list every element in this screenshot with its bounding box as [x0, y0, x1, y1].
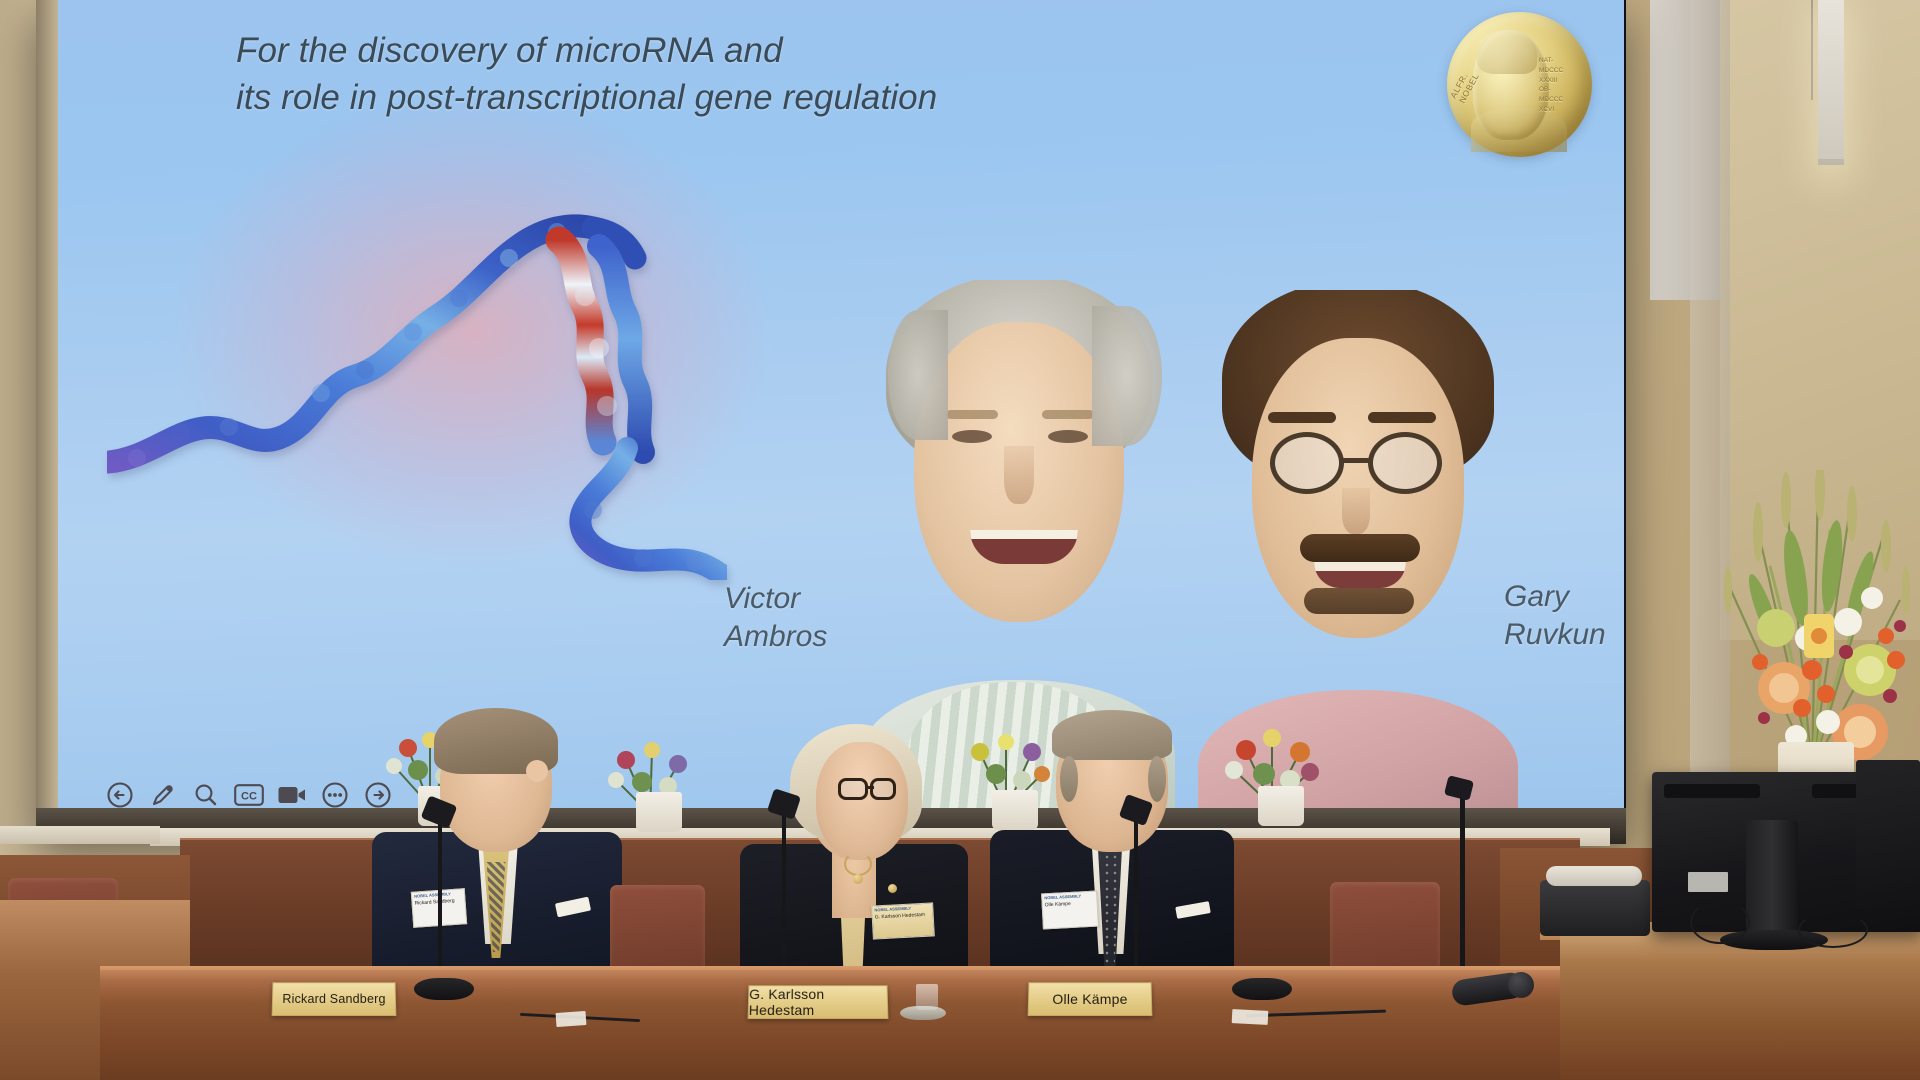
- magnifier-icon[interactable]: [191, 780, 221, 810]
- medal-insc-r3: XXXIII: [1539, 76, 1583, 86]
- vase-4: [1258, 786, 1304, 826]
- slide-title: For the discovery of microRNA and its ro…: [236, 28, 1296, 122]
- slide-title-line-1: For the discovery of microRNA and: [236, 31, 783, 70]
- pen-icon[interactable]: [148, 780, 178, 810]
- panelist-olle-kampe: NOBEL ASSEMBLY Olle Kämpe: [1000, 702, 1222, 1002]
- monitor-cable: [1690, 900, 1750, 944]
- monitor-spec-label: [1688, 872, 1728, 892]
- paper-right: [1232, 1009, 1269, 1025]
- flower-arrangement-large: [1700, 470, 1920, 780]
- closed-caption-icon[interactable]: CC: [234, 780, 264, 810]
- caption-ambros-last: Ambros: [724, 618, 884, 656]
- monitor-cable-2: [1798, 912, 1868, 948]
- caption-ruvkun-last: Ruvkun: [1504, 616, 1624, 654]
- laureate-caption-ruvkun: Gary Ruvkun: [1504, 578, 1624, 655]
- handheld-microphone-head: [1508, 972, 1534, 998]
- nameplate-rickard-sandberg: Rickard Sandberg: [272, 982, 397, 1016]
- nameplate-karlsson-hedestam: G. Karlsson Hedestam: [748, 985, 889, 1019]
- desk-right-front: [1560, 930, 1920, 1080]
- conference-phone[interactable]: [1540, 880, 1650, 936]
- water-glass: [916, 984, 938, 1010]
- ellipsis-icon[interactable]: [320, 780, 350, 810]
- microphone-stand-far-right: [1460, 790, 1465, 970]
- medal-insc-r1: NAT-: [1539, 56, 1583, 66]
- svg-text:CC: CC: [241, 791, 257, 803]
- badge-center: NOBEL ASSEMBLY G. Karlsson Hedestam: [871, 902, 935, 939]
- nameplate-olle-kampe: Olle Kämpe: [1028, 982, 1153, 1016]
- medal-insc-r4: OB-: [1539, 85, 1583, 95]
- microphone-stand-right: [1134, 816, 1138, 986]
- medal-insc-r6: XCVI: [1539, 105, 1583, 115]
- paper-left: [556, 1011, 587, 1027]
- microphone-stand-left: [438, 818, 442, 988]
- phone-handset[interactable]: [1546, 866, 1642, 886]
- medal-inscription-right: NAT- MDCCC XXXIII OB- MDCCC XCVI: [1539, 56, 1583, 115]
- video-camera-icon[interactable]: [277, 780, 307, 810]
- laureate-caption-ambros: Victor Ambros: [724, 580, 884, 657]
- medal-insc-r2: MDCCC: [1539, 66, 1583, 76]
- screenshot-root: For the discovery of microRNA and its ro…: [0, 0, 1920, 1080]
- monitor-vent-left: [1664, 784, 1760, 798]
- table-microphone-base-left: [414, 978, 474, 1000]
- podium-ledge-left: [0, 826, 160, 844]
- microphone-stand-center: [782, 812, 786, 988]
- projection-screen: For the discovery of microRNA and its ro…: [52, 0, 1624, 822]
- monitor-stand-neck: [1746, 820, 1798, 938]
- table-microphone-base-right: [1232, 978, 1292, 1000]
- slide-title-line-2: its role in post-transcriptional gene re…: [236, 75, 1296, 122]
- nobel-medal-icon: ALFR. NOBEL NAT- MDCCC XXXIII OB- MDCCC …: [1447, 12, 1592, 157]
- light-cable: [1811, 0, 1813, 100]
- medal-insc-r5: MDCCC: [1539, 95, 1583, 105]
- caption-ambros-first: Victor: [724, 580, 884, 618]
- vase-2: [636, 792, 682, 832]
- screen-left-edge: [36, 0, 58, 838]
- caption-ruvkun-first: Gary: [1504, 578, 1624, 616]
- panelist-rickard-sandberg: NOBEL ASSEMBLY Rickard Sandberg: [380, 702, 610, 1002]
- back-arrow-icon[interactable]: [105, 780, 135, 810]
- badge-right: NOBEL ASSEMBLY Olle Kämpe: [1041, 891, 1099, 930]
- av-monitor-secondary: [1856, 760, 1920, 910]
- wall-light-fixture: [1818, 0, 1844, 165]
- rna-molecule-graphic: [107, 180, 727, 580]
